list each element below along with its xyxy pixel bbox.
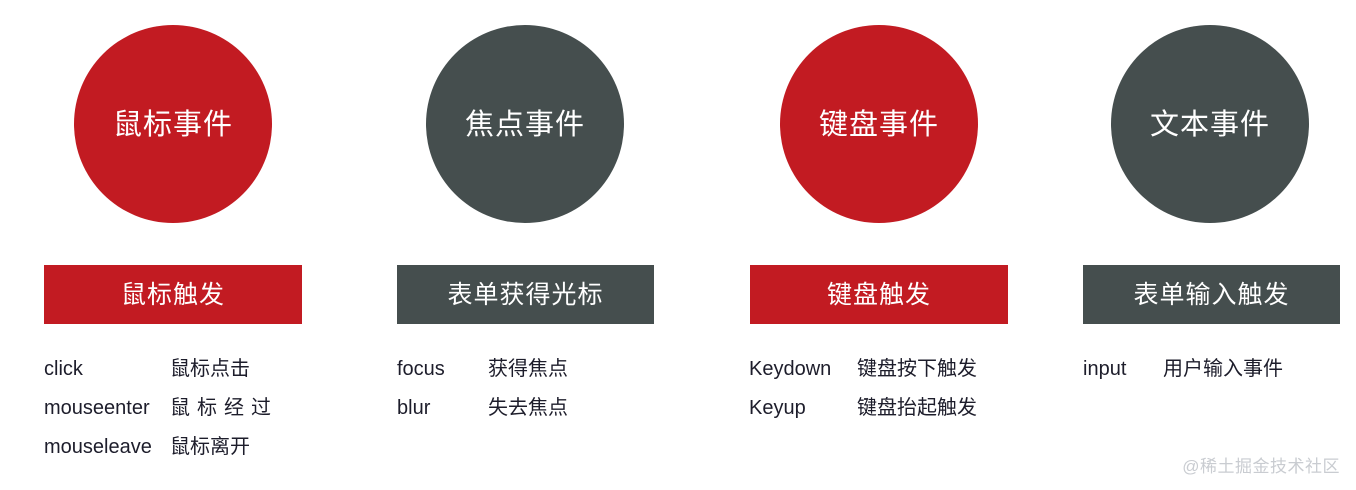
event-list-mouse-events: click鼠标点击 mouseenter鼠标经过 mouseleave鼠标离开 xyxy=(44,350,344,467)
event-name: blur xyxy=(397,389,488,428)
event-circle-label: 焦点事件 xyxy=(465,111,585,140)
list-item: input用户输入事件 xyxy=(1083,350,1356,389)
list-item: Keyup键盘抬起触发 xyxy=(749,389,1049,428)
event-name: Keydown xyxy=(749,350,857,389)
event-name: click xyxy=(44,350,170,389)
event-circle-keyboard-events: 键盘事件 xyxy=(780,25,978,223)
event-description: 鼠标点击 xyxy=(170,350,250,389)
event-description: 键盘抬起触发 xyxy=(857,389,977,428)
event-circle-text-events: 文本事件 xyxy=(1111,25,1309,223)
event-name: mouseleave xyxy=(44,428,170,467)
event-list-focus-events: focus获得焦点 blur失去焦点 xyxy=(397,350,697,428)
event-name: Keyup xyxy=(749,389,857,428)
list-item: focus获得焦点 xyxy=(397,350,697,389)
event-types-diagram: 鼠标事件 鼠标触发 click鼠标点击 mouseenter鼠标经过 mouse… xyxy=(0,0,1356,490)
list-item: click鼠标点击 xyxy=(44,350,344,389)
event-column-mouse-events: 鼠标事件 鼠标触发 click鼠标点击 mouseenter鼠标经过 mouse… xyxy=(3,0,343,490)
event-description: 失去焦点 xyxy=(488,389,568,428)
list-item: mouseenter鼠标经过 xyxy=(44,389,344,428)
event-bar-label: 表单获得光标 xyxy=(447,283,603,308)
event-description: 鼠标离开 xyxy=(170,428,250,467)
event-bar-label: 表单输入触发 xyxy=(1133,283,1289,308)
list-item: mouseleave鼠标离开 xyxy=(44,428,344,467)
event-description: 键盘按下触发 xyxy=(857,350,977,389)
event-list-text-events: input用户输入事件 xyxy=(1083,350,1356,389)
event-bar-mouse-events: 鼠标触发 xyxy=(44,265,302,324)
event-circle-label: 鼠标事件 xyxy=(113,111,233,140)
event-column-text-events: 文本事件 表单输入触发 input用户输入事件 xyxy=(1042,0,1356,490)
event-circle-focus-events: 焦点事件 xyxy=(426,25,624,223)
event-description: 鼠标经过 xyxy=(170,389,278,428)
watermark: @稀土掘金技术社区 xyxy=(1182,452,1340,477)
event-circle-label: 文本事件 xyxy=(1150,111,1270,140)
event-name: input xyxy=(1083,350,1163,389)
event-name: mouseenter xyxy=(44,389,170,428)
event-bar-keyboard-events: 键盘触发 xyxy=(750,265,1008,324)
list-item: Keydown键盘按下触发 xyxy=(749,350,1049,389)
event-description: 获得焦点 xyxy=(488,350,568,389)
event-column-focus-events: 焦点事件 表单获得光标 focus获得焦点 blur失去焦点 xyxy=(356,0,696,490)
event-bar-label: 键盘触发 xyxy=(827,283,931,308)
list-item: blur失去焦点 xyxy=(397,389,697,428)
event-column-keyboard-events: 键盘事件 键盘触发 Keydown键盘按下触发 Keyup键盘抬起触发 xyxy=(709,0,1049,490)
event-circle-label: 键盘事件 xyxy=(819,111,939,140)
event-circle-mouse-events: 鼠标事件 xyxy=(74,25,272,223)
event-bar-text-events: 表单输入触发 xyxy=(1083,265,1340,324)
event-bar-label: 鼠标触发 xyxy=(121,283,225,308)
event-bar-focus-events: 表单获得光标 xyxy=(397,265,654,324)
event-name: focus xyxy=(397,350,488,389)
event-list-keyboard-events: Keydown键盘按下触发 Keyup键盘抬起触发 xyxy=(749,350,1049,428)
event-description: 用户输入事件 xyxy=(1163,350,1283,389)
